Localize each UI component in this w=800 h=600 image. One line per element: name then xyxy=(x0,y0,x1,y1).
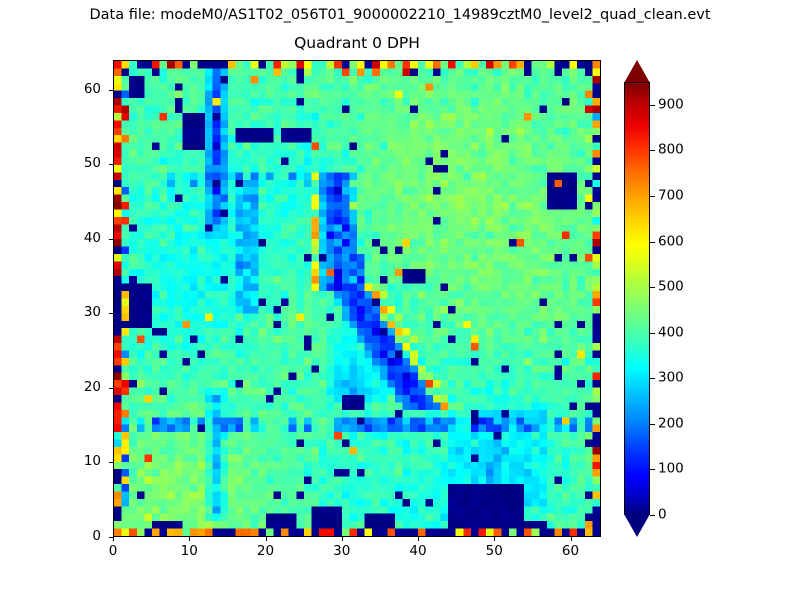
colorbar-tick-mark xyxy=(650,242,655,243)
y-tick-mark xyxy=(109,537,113,538)
y-tick-label: 40 xyxy=(55,231,101,246)
colorbar-tick-mark xyxy=(650,333,655,334)
x-tick-label: 10 xyxy=(166,544,212,559)
colorbar-extend-max-arrow-icon xyxy=(624,60,650,83)
y-tick-label: 50 xyxy=(55,156,101,171)
x-tick-label: 50 xyxy=(471,544,517,559)
y-tick-mark xyxy=(109,388,113,389)
x-tick-mark xyxy=(571,537,572,541)
x-tick-mark xyxy=(494,537,495,541)
y-tick-mark xyxy=(109,313,113,314)
colorbar-tick-mark xyxy=(650,150,655,151)
colorbar-tick-mark xyxy=(650,424,655,425)
colorbar-tick-mark xyxy=(650,378,655,379)
data-file-suptitle: Data file: modeM0/AS1T02_056T01_90000022… xyxy=(0,6,800,24)
plot-title: Quadrant 0 DPH xyxy=(113,33,601,53)
y-tick-mark xyxy=(109,164,113,165)
colorbar-tick-label: 200 xyxy=(658,416,684,431)
x-tick-mark xyxy=(189,537,190,541)
colorbar-extend-min-arrow-icon xyxy=(624,514,650,537)
x-tick-label: 20 xyxy=(243,544,289,559)
x-tick-mark xyxy=(113,537,114,541)
y-tick-label: 20 xyxy=(55,380,101,395)
colorbar-tick-mark xyxy=(650,469,655,470)
y-tick-label: 10 xyxy=(55,454,101,469)
colorbar-gradient xyxy=(624,82,650,515)
colorbar-tick-label: 900 xyxy=(658,97,684,112)
colorbar-tick-mark xyxy=(650,105,655,106)
x-tick-mark xyxy=(418,537,419,541)
colorbar-tick-label: 500 xyxy=(658,280,684,295)
colorbar[interactable]: 0100200300400500600700800900 xyxy=(624,60,650,537)
colorbar-tick-label: 100 xyxy=(658,462,684,477)
colorbar-tick-mark xyxy=(650,515,655,516)
figure-canvas: Data file: modeM0/AS1T02_056T01_90000022… xyxy=(0,0,800,600)
y-tick-label: 0 xyxy=(55,529,101,544)
y-tick-mark xyxy=(109,239,113,240)
x-tick-label: 40 xyxy=(395,544,441,559)
heatmap-axes[interactable] xyxy=(113,60,601,537)
colorbar-tick-label: 800 xyxy=(658,143,684,158)
x-tick-label: 0 xyxy=(90,544,136,559)
colorbar-tick-label: 0 xyxy=(658,508,667,523)
x-tick-label: 30 xyxy=(319,544,365,559)
x-tick-mark xyxy=(266,537,267,541)
colorbar-tick-label: 400 xyxy=(658,325,684,340)
x-tick-mark xyxy=(342,537,343,541)
y-tick-mark xyxy=(109,90,113,91)
colorbar-tick-mark xyxy=(650,287,655,288)
detector-pixel-heatmap[interactable] xyxy=(114,61,600,536)
y-tick-label: 30 xyxy=(55,305,101,320)
y-tick-label: 60 xyxy=(55,82,101,97)
colorbar-tick-mark xyxy=(650,196,655,197)
colorbar-tick-label: 600 xyxy=(658,234,684,249)
colorbar-tick-label: 700 xyxy=(658,188,684,203)
colorbar-tick-label: 300 xyxy=(658,371,684,386)
y-tick-mark xyxy=(109,462,113,463)
x-tick-label: 60 xyxy=(548,544,594,559)
